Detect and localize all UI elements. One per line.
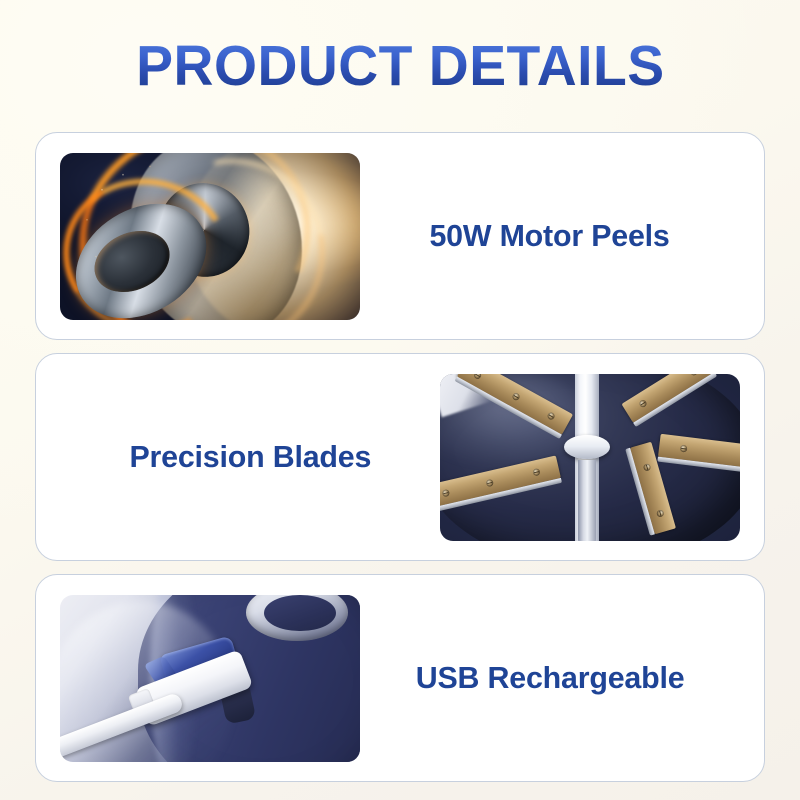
usb-device-lid-inner (264, 595, 336, 632)
feature-card-motor[interactable]: 50W Motor Peels (35, 132, 765, 340)
blade-screw (638, 398, 648, 408)
blade-screw (442, 489, 450, 497)
blade-screw (473, 374, 483, 380)
feature-card-usb[interactable]: USB Rechargeable (35, 574, 765, 782)
motor-photo (60, 153, 360, 320)
product-details-page: PRODUCT DETAILS 50W Motor Peels (0, 0, 800, 800)
blade-shaft-lower (578, 460, 596, 540)
blade-screw (656, 510, 665, 519)
blade-screw (547, 411, 557, 421)
feature-card-blades[interactable]: Precision Blades (35, 353, 765, 561)
blade-screw (643, 463, 652, 472)
blade-screw (485, 479, 493, 487)
feature-card-list: 50W Motor Peels (0, 132, 800, 782)
feature-label-motor: 50W Motor Peels (430, 218, 670, 254)
usb-label-slot: USB Rechargeable (360, 660, 740, 696)
blade-screw (511, 391, 521, 401)
blade-screw (532, 468, 540, 476)
page-title-container: PRODUCT DETAILS (0, 0, 800, 132)
motor-label-slot: 50W Motor Peels (360, 218, 740, 254)
blade-screw (689, 374, 699, 377)
usb-charging-photo (60, 595, 360, 762)
motor-spark-particles (60, 153, 360, 320)
page-title: PRODUCT DETAILS (136, 38, 664, 95)
feature-label-usb: USB Rechargeable (416, 660, 685, 696)
feature-label-blades: Precision Blades (129, 439, 371, 475)
blade-disc-photo (440, 374, 740, 541)
blades-label-slot: Precision Blades (60, 439, 440, 475)
blade-shaft-collar (564, 435, 610, 459)
blade-screw (680, 445, 688, 453)
